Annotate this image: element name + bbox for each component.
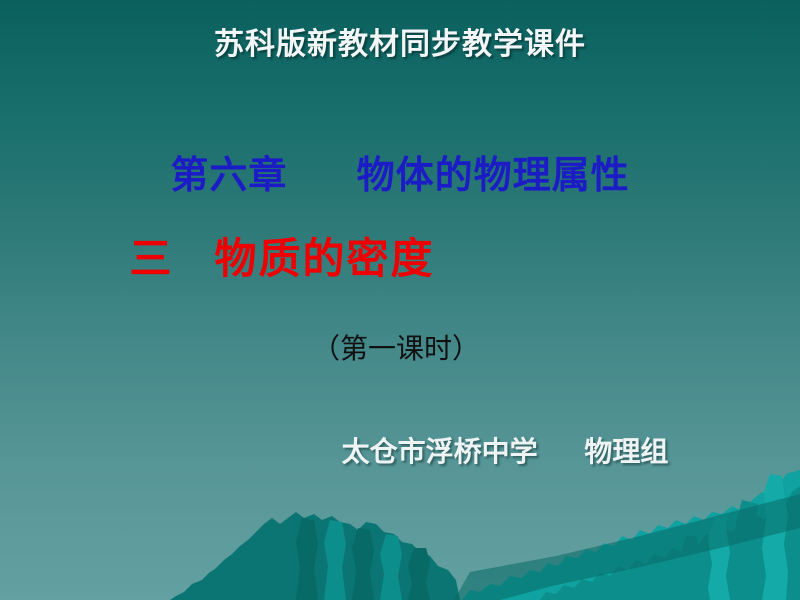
mountain-facet-3 [708,514,730,600]
mountain-fin-2 [380,534,402,600]
slide-credits: 太仓市浮桥中学 物理组 [105,438,800,466]
mountain-facet-2 [736,500,760,600]
mountain-decoration-graphic [0,0,800,600]
mountain-ridge-mid [540,486,800,600]
presentation-slide: 苏科版新教材同步教学课件 第六章 物体的物理属性 三 物质的密度 （第一课时） … [0,0,800,600]
mountain-ridge-front-mass [178,512,460,600]
mountain-fin-4 [324,520,346,600]
slide-chapter-line: 第六章 物体的物理属性 [0,157,800,195]
slide-section-title: 三 物质的密度 [0,238,682,280]
mountain-fin-3 [352,528,374,600]
mountain-facet-4 [680,536,700,600]
slide-header-title: 苏科版新教材同步教学课件 [0,30,800,60]
mountain-fin-1 [408,548,430,600]
slide-subtitle: （第一课时） [0,335,796,363]
mountain-ridge-front [170,535,452,600]
mountain-ridge-back [462,470,800,600]
mountain-slab-highlight [454,494,800,600]
mountain-facet-1 [762,474,788,600]
mountain-fin-5 [296,518,318,600]
